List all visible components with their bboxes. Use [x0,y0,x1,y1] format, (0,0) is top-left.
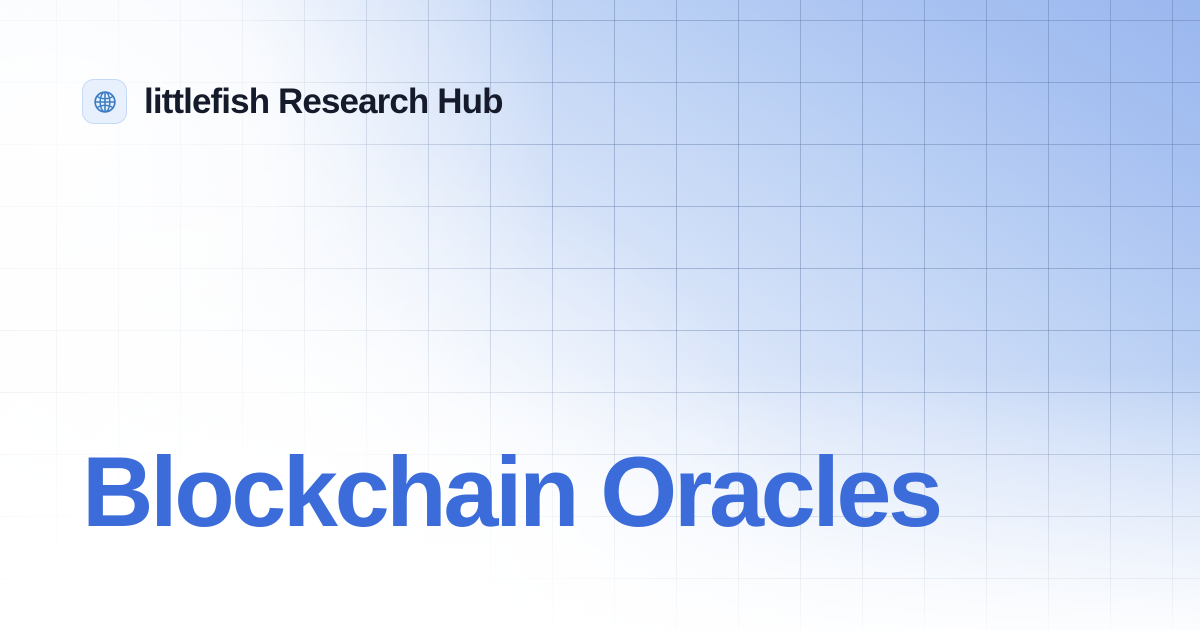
og-card: littlefish Research Hub Blockchain Oracl… [0,0,1200,630]
card-content: littlefish Research Hub Blockchain Oracl… [0,0,1200,630]
brand-header: littlefish Research Hub [82,79,503,124]
page-title: Blockchain Oracles [82,440,940,545]
brand-badge [82,79,127,124]
globe-icon [92,89,118,115]
brand-title: littlefish Research Hub [144,84,503,119]
